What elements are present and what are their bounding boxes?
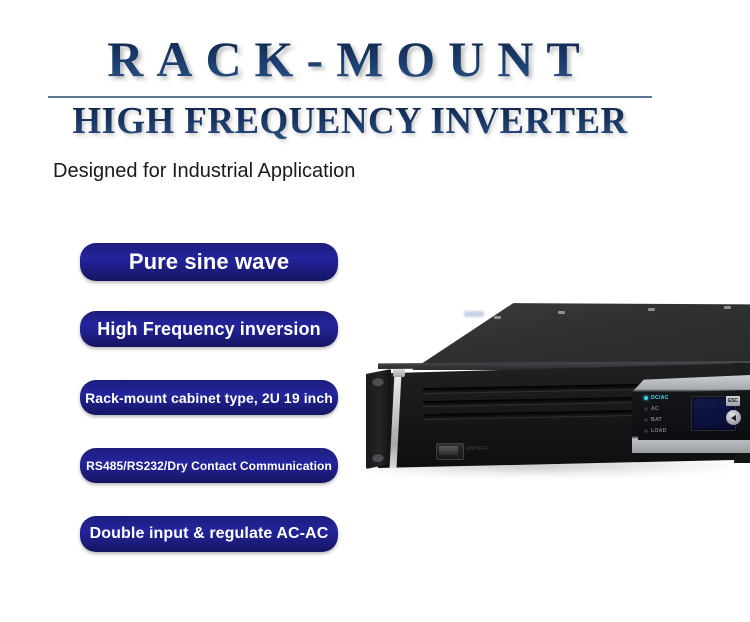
feature-badge-label: Pure sine wave bbox=[129, 249, 289, 275]
power-switch-rocker[interactable] bbox=[439, 446, 458, 455]
nav-left-button[interactable] bbox=[726, 410, 741, 425]
feature-badge: High Frequency inversion bbox=[80, 311, 338, 347]
led-lamp-icon bbox=[644, 429, 648, 433]
tagline: Designed for Industrial Application bbox=[53, 160, 355, 183]
led-indicator: DC/AC bbox=[644, 395, 666, 400]
led-lamp-icon bbox=[644, 418, 648, 422]
led-indicator: AC bbox=[644, 406, 658, 411]
feature-badge-label: RS485/RS232/Dry Contact Communication bbox=[86, 459, 332, 473]
product-image: ON/OFF DC/AC AC BAT LOAD ESC bbox=[366, 303, 750, 493]
chassis-screw bbox=[724, 306, 731, 309]
power-switch-label: ON/OFF bbox=[466, 446, 487, 452]
chassis-screw bbox=[648, 308, 655, 311]
chassis-top-panel bbox=[412, 303, 750, 370]
feature-badge-label: Rack-mount cabinet type, 2U 19 inch bbox=[85, 390, 333, 406]
feature-badge-label: Double input & regulate AC-AC bbox=[90, 525, 329, 543]
chassis-screw bbox=[494, 316, 501, 319]
headline-banner: RACK-MOUNT HIGH FREQUENCY INVERTER bbox=[0, 0, 750, 150]
title-divider bbox=[48, 96, 652, 98]
page-title: RACK-MOUNT bbox=[0, 33, 700, 85]
feature-badge: Double input & regulate AC-AC bbox=[80, 516, 338, 552]
rack-ear-hole bbox=[372, 453, 384, 462]
feature-badge: Rack-mount cabinet type, 2U 19 inch bbox=[80, 380, 338, 415]
led-indicator: BAT bbox=[644, 417, 661, 422]
chassis-screw bbox=[558, 311, 565, 314]
led-label: AC bbox=[651, 406, 659, 412]
led-label: BAT bbox=[651, 417, 662, 423]
feature-badge-label: High Frequency inversion bbox=[97, 319, 320, 340]
led-lamp-icon bbox=[644, 396, 648, 400]
led-indicator: LOAD bbox=[644, 428, 665, 433]
feature-badge: Pure sine wave bbox=[80, 243, 338, 281]
feature-badge: RS485/RS232/Dry Contact Communication bbox=[80, 448, 338, 483]
chassis-top-highlight bbox=[464, 311, 484, 317]
led-lamp-icon bbox=[644, 407, 648, 411]
chevron-left-icon bbox=[731, 415, 736, 421]
chassis-handle[interactable] bbox=[390, 373, 428, 468]
esc-button[interactable]: ESC bbox=[726, 396, 740, 406]
led-label: LOAD bbox=[651, 428, 667, 434]
page-subtitle: HIGH FREQUENCY INVERTER bbox=[11, 100, 690, 142]
rack-ear-hole bbox=[372, 377, 384, 386]
led-label: DC/AC bbox=[651, 395, 669, 401]
chassis-handle-tip bbox=[393, 369, 405, 377]
